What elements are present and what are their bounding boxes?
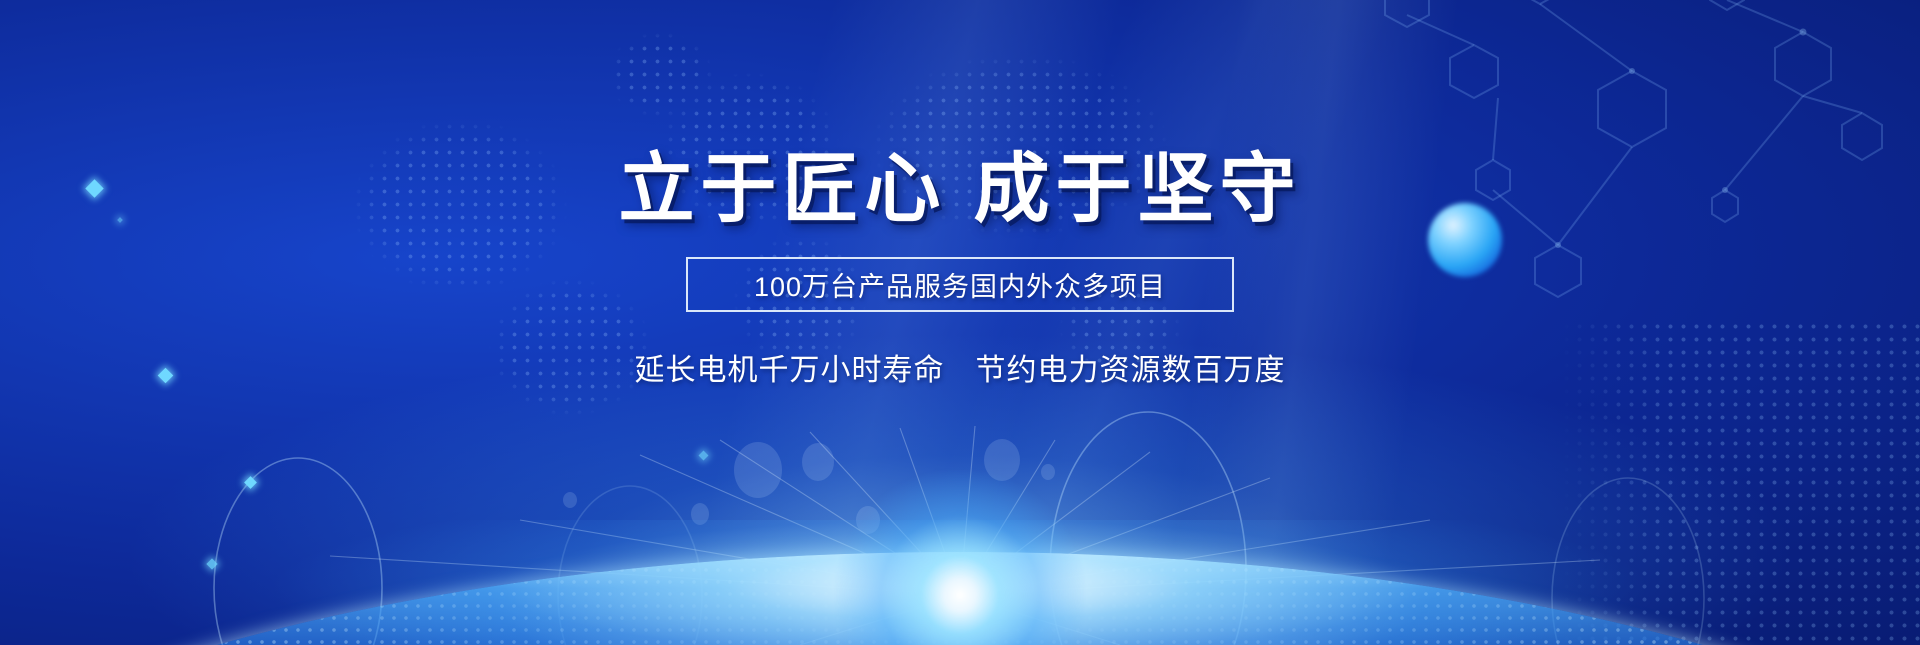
banner-badge-text: 100万台产品服务国内外众多项目 [754, 265, 1166, 304]
banner-tagline: 延长电机千万小时寿命 节约电力资源数百万度 [635, 345, 1286, 389]
banner-badge-box: 100万台产品服务国内外众多项目 [686, 257, 1234, 312]
hero-banner: 立于匠心 成于坚守 100万台产品服务国内外众多项目 延长电机千万小时寿命 节约… [0, 0, 1920, 645]
banner-headline: 立于匠心 成于坚守 [618, 152, 1301, 228]
banner-content: 立于匠心 成于坚守 100万台产品服务国内外众多项目 延长电机千万小时寿命 节约… [0, 0, 1920, 645]
